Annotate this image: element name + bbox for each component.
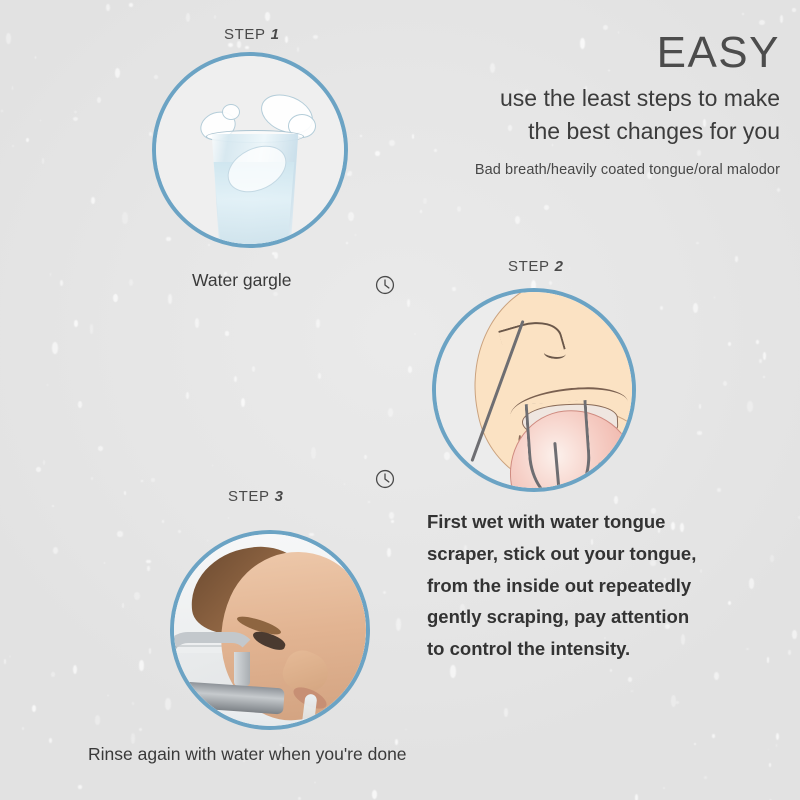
step-2-body-text: First wet with water tongue scraper, sti… bbox=[427, 506, 707, 665]
clock-icon bbox=[374, 274, 396, 296]
water-speck bbox=[132, 702, 134, 706]
water-speck bbox=[355, 234, 356, 236]
water-speck bbox=[631, 690, 634, 692]
water-speck bbox=[420, 210, 422, 214]
water-speck bbox=[759, 20, 765, 26]
water-speck bbox=[228, 517, 229, 519]
water-speck bbox=[129, 279, 133, 286]
water-speck bbox=[697, 431, 701, 435]
water-speck bbox=[149, 132, 152, 136]
water-speck bbox=[115, 68, 120, 78]
water-speck bbox=[265, 12, 271, 21]
water-speck bbox=[768, 749, 769, 750]
tongue-coating-spot bbox=[609, 453, 613, 457]
water-speck bbox=[272, 252, 275, 255]
water-speck bbox=[12, 145, 15, 147]
water-speck bbox=[770, 555, 774, 562]
water-speck bbox=[742, 13, 744, 16]
water-speck bbox=[78, 401, 83, 409]
water-speck bbox=[696, 242, 699, 244]
glass-of-water-image bbox=[156, 56, 344, 244]
tagline-line-2: the best changes for you bbox=[400, 115, 780, 148]
water-speck bbox=[614, 496, 617, 504]
step-3-label: STEP3 bbox=[228, 488, 284, 505]
water-speck bbox=[36, 467, 41, 472]
water-speck bbox=[149, 648, 151, 654]
faucet-neck bbox=[234, 652, 250, 686]
water-speck bbox=[389, 140, 394, 147]
water-speck bbox=[408, 366, 412, 373]
water-speck bbox=[360, 135, 361, 137]
water-speck bbox=[47, 384, 48, 387]
water-speck bbox=[147, 566, 150, 571]
water-speck bbox=[214, 15, 216, 19]
water-speck bbox=[106, 4, 110, 12]
water-speck bbox=[168, 294, 172, 304]
step-2-label: STEP2 bbox=[508, 258, 564, 275]
water-speck bbox=[162, 520, 164, 524]
water-speck bbox=[693, 303, 698, 313]
water-speck bbox=[117, 531, 122, 537]
water-speck bbox=[52, 505, 54, 507]
water-speck bbox=[234, 376, 237, 382]
man-rinsing-at-faucet-image bbox=[174, 534, 366, 726]
water-speck bbox=[95, 715, 101, 725]
water-speck bbox=[166, 237, 170, 241]
water-speck bbox=[146, 560, 151, 563]
step-3-image-circle bbox=[170, 530, 370, 730]
water-speck bbox=[348, 171, 352, 176]
water-speck bbox=[316, 319, 321, 328]
water-speck bbox=[42, 158, 44, 164]
water-speck bbox=[423, 198, 427, 204]
water-speck bbox=[635, 794, 638, 800]
water-speck bbox=[405, 729, 406, 730]
water-speck bbox=[98, 446, 104, 451]
water-speck bbox=[131, 733, 135, 744]
water-speck bbox=[122, 603, 125, 607]
water-speck bbox=[414, 333, 416, 335]
water-speck bbox=[225, 331, 230, 336]
water-speck bbox=[285, 36, 288, 43]
water-speck bbox=[389, 512, 394, 520]
water-speck bbox=[186, 13, 190, 22]
water-speck bbox=[407, 299, 410, 307]
water-speck bbox=[712, 734, 715, 738]
water-speck bbox=[663, 787, 665, 789]
water-speck bbox=[660, 306, 663, 309]
water-speck bbox=[313, 35, 319, 40]
water-speck bbox=[208, 244, 209, 246]
water-speck bbox=[368, 501, 370, 503]
water-speck bbox=[53, 547, 59, 554]
step-2-image-circle bbox=[432, 288, 636, 492]
water-speck bbox=[747, 401, 753, 413]
water-speck bbox=[383, 591, 386, 594]
water-speck bbox=[22, 727, 24, 730]
water-speck bbox=[97, 97, 101, 103]
water-speck bbox=[372, 790, 377, 800]
water-speck bbox=[91, 477, 94, 480]
water-speck bbox=[139, 660, 144, 672]
step-3-label-number: 3 bbox=[275, 488, 284, 505]
water-speck bbox=[452, 287, 456, 292]
water-speck bbox=[49, 738, 52, 743]
step-2-label-prefix: STEP bbox=[508, 258, 550, 275]
water-speck bbox=[763, 352, 766, 360]
water-speck bbox=[91, 197, 95, 204]
water-speck bbox=[60, 280, 63, 286]
infographic-poster: EASY use the least steps to make the bes… bbox=[0, 0, 800, 800]
step-1-caption: Water gargle bbox=[192, 270, 292, 291]
water-speck bbox=[457, 206, 461, 212]
water-speck bbox=[344, 483, 345, 485]
water-speck bbox=[318, 373, 322, 379]
water-speck bbox=[780, 15, 783, 24]
water-speck bbox=[298, 797, 301, 800]
water-speck bbox=[375, 151, 380, 156]
water-speck bbox=[139, 728, 141, 731]
tongue-scraper-illustration bbox=[436, 292, 632, 488]
water-speck bbox=[186, 392, 189, 400]
water-speck bbox=[245, 46, 249, 49]
water-speck bbox=[346, 242, 349, 245]
water-speck bbox=[129, 3, 133, 8]
water-speck bbox=[792, 630, 797, 639]
water-speck bbox=[35, 56, 36, 59]
headline-block: EASY use the least steps to make the bes… bbox=[400, 30, 780, 178]
water-speck bbox=[549, 281, 552, 286]
water-speck bbox=[792, 8, 796, 12]
water-speck bbox=[6, 33, 11, 44]
step-1-image-circle bbox=[152, 52, 348, 248]
water-speck bbox=[314, 782, 315, 783]
water-speck bbox=[297, 47, 299, 52]
water-speck bbox=[777, 188, 780, 192]
water-speck bbox=[124, 491, 126, 495]
water-speck bbox=[364, 455, 367, 459]
water-speck bbox=[759, 359, 762, 363]
water-speck bbox=[113, 294, 118, 302]
water-speck bbox=[51, 672, 54, 677]
step-2-label-number: 2 bbox=[555, 258, 564, 275]
water-speck bbox=[348, 212, 354, 222]
step-1-label: STEP1 bbox=[224, 26, 280, 43]
clock-icon bbox=[374, 468, 396, 490]
step-3-caption: Rinse again with water when you're done bbox=[88, 744, 407, 765]
water-speck bbox=[4, 659, 7, 664]
water-speck bbox=[676, 701, 680, 704]
water-speck bbox=[134, 592, 140, 600]
tongue-coating-spot bbox=[608, 477, 612, 481]
water-speck bbox=[195, 318, 199, 328]
water-speck bbox=[32, 705, 36, 712]
water-speck bbox=[728, 342, 732, 347]
water-speck bbox=[671, 695, 676, 707]
water-speck bbox=[728, 601, 731, 605]
water-speck bbox=[544, 205, 548, 210]
water-speck bbox=[714, 672, 719, 681]
water-speck bbox=[769, 763, 771, 768]
tongue-coating-spot bbox=[598, 462, 603, 467]
water-speck bbox=[735, 256, 738, 261]
water-speck bbox=[26, 138, 29, 142]
water-speck bbox=[178, 530, 180, 533]
water-speck bbox=[74, 111, 77, 113]
water-speck bbox=[515, 216, 520, 224]
water-speck bbox=[776, 744, 777, 747]
water-speck bbox=[78, 785, 81, 789]
tagline-line-1: use the least steps to make bbox=[400, 82, 780, 115]
tagline: use the least steps to make the best cha… bbox=[400, 82, 780, 147]
water-speck bbox=[347, 173, 349, 176]
water-speck bbox=[50, 273, 51, 276]
water-speck bbox=[73, 665, 77, 674]
water-speck bbox=[228, 43, 233, 47]
water-speck bbox=[699, 404, 701, 409]
water-speck bbox=[73, 117, 78, 121]
water-speck bbox=[694, 743, 696, 745]
water-speck bbox=[273, 292, 277, 296]
step-1-label-number: 1 bbox=[271, 26, 280, 43]
water-speck bbox=[212, 465, 213, 466]
water-speck bbox=[74, 320, 78, 327]
water-speck bbox=[776, 733, 779, 740]
water-speck bbox=[387, 548, 391, 557]
water-speck bbox=[704, 776, 707, 779]
water-speck bbox=[107, 695, 109, 697]
water-speck bbox=[154, 75, 158, 79]
water-speck bbox=[767, 657, 770, 663]
water-speck bbox=[746, 648, 750, 651]
water-speck bbox=[714, 296, 715, 298]
splash-drop bbox=[222, 104, 240, 120]
water-speck bbox=[396, 618, 402, 631]
step-1-label-prefix: STEP bbox=[224, 26, 266, 43]
water-speck bbox=[628, 677, 633, 683]
water-speck bbox=[241, 398, 245, 407]
water-speck bbox=[723, 381, 727, 386]
water-speck bbox=[504, 708, 509, 717]
water-speck bbox=[763, 376, 765, 378]
water-speck bbox=[274, 252, 279, 260]
water-speck bbox=[444, 452, 450, 460]
water-speck bbox=[40, 120, 41, 121]
water-speck bbox=[788, 650, 791, 655]
water-speck bbox=[569, 267, 571, 269]
water-speck bbox=[756, 340, 758, 344]
water-speck bbox=[749, 578, 755, 589]
water-speck bbox=[151, 478, 155, 483]
water-speck bbox=[43, 460, 45, 465]
step-3-label-prefix: STEP bbox=[228, 488, 270, 505]
water-speck bbox=[610, 669, 612, 672]
water-speck bbox=[717, 488, 721, 493]
subline: Bad breath/heavily coated tongue/oral ma… bbox=[400, 162, 780, 178]
water-speck bbox=[122, 212, 128, 224]
page-title: EASY bbox=[400, 30, 780, 76]
water-speck bbox=[52, 342, 58, 354]
water-speck bbox=[252, 366, 255, 372]
water-speck bbox=[104, 562, 106, 565]
water-speck bbox=[9, 656, 10, 657]
water-speck bbox=[90, 324, 94, 333]
water-speck bbox=[165, 698, 171, 711]
water-speck bbox=[141, 480, 143, 482]
water-speck bbox=[450, 665, 456, 679]
water-speck bbox=[311, 447, 316, 459]
water-speck bbox=[388, 408, 394, 417]
water-speck bbox=[391, 520, 394, 524]
water-speck bbox=[12, 86, 14, 91]
water-speck bbox=[1, 110, 3, 112]
